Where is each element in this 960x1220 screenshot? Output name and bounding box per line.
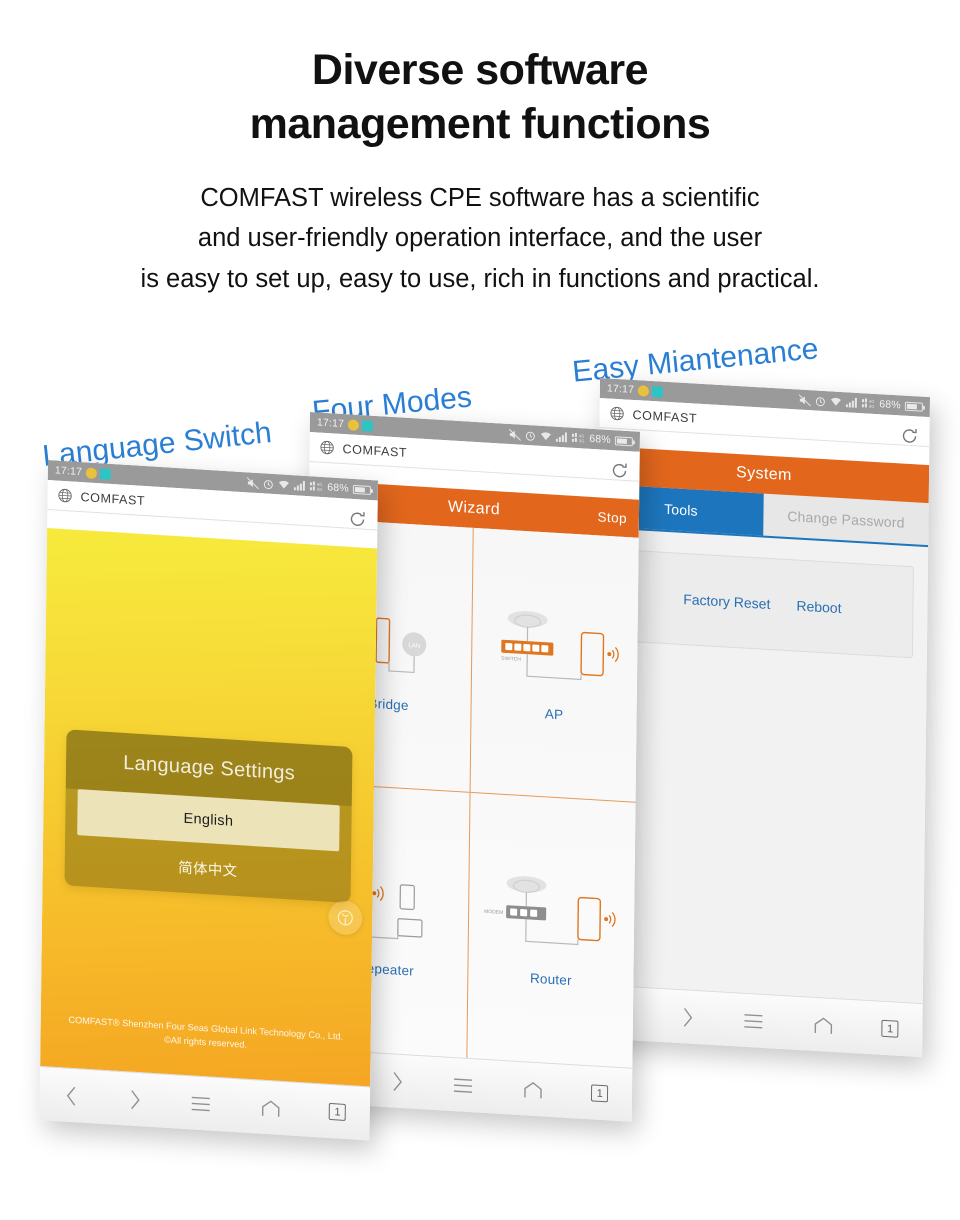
reload-icon [899,425,919,446]
phone1-copyright: COMFAST® Shenzhen Four Seas Global Link … [58,1014,352,1060]
tab-count-button[interactable]: 1 [591,1084,608,1102]
url-host: COMFAST [633,407,698,425]
phone-mockup-language: 17:17 4G3G 68% [39,460,378,1140]
notification-circle-icon [348,419,359,431]
battery-icon [353,484,371,494]
globe-icon [319,440,334,456]
forward-icon[interactable] [389,1070,405,1093]
mode-label-ap: AP [545,706,564,722]
svg-text:LAN: LAN [408,643,420,650]
appbar-title: System [736,464,792,485]
reboot-button[interactable]: Reboot [796,598,841,617]
app-badge-icon [100,468,111,480]
mute-icon [509,428,521,440]
reload-button[interactable] [347,509,367,535]
globe-icon [57,488,72,504]
mode-cell-router[interactable]: MODEM Router [467,793,635,1068]
svg-text:3G: 3G [579,438,585,443]
notification-circle-icon [86,467,97,479]
back-icon[interactable] [63,1084,79,1107]
app-badge-icon [652,386,663,398]
clock: 17:17 [607,382,634,396]
phone3-tools-panel: Factory Reset Reboot [611,549,914,659]
menu-icon[interactable] [190,1094,212,1113]
language-settings-dialog: Language Settings English 简体中文 [64,729,352,903]
signal-icon [846,397,858,408]
svg-text:3G: 3G [869,404,875,409]
reload-icon [347,509,367,530]
signal-icon [556,432,568,443]
dual-sim-icon: 4G3G [572,433,585,444]
dual-sim-icon: 4G3G [310,481,323,492]
tab-count-button[interactable]: 1 [329,1103,346,1121]
mute-icon [799,394,811,406]
app-badge-icon [362,420,373,432]
home-icon[interactable] [522,1079,544,1100]
mute-icon [247,477,259,489]
ap-diagram: SWITCH [484,604,625,704]
page-title: Diverse software management functions [0,0,960,152]
battery-percent: 68% [879,398,901,411]
phone-mockup-system: 17:17 4G3G 68% [592,378,930,1057]
reload-button[interactable] [899,425,919,451]
alarm-icon [525,429,536,441]
svg-text:MODEM: MODEM [484,909,503,916]
language-fab-button[interactable] [328,900,362,936]
svg-text:3G: 3G [317,487,323,492]
home-icon[interactable] [259,1097,281,1118]
language-globe-icon [336,908,354,927]
page-header: Diverse software management functions CO… [0,0,960,300]
factory-reset-button[interactable]: Factory Reset [683,591,770,612]
phones-stage: Easy Miantenance Four Modes 17:17 [0,330,960,1220]
page-subtitle-line2: and user-friendly operation interface, a… [0,218,960,259]
phone3-body: System Tools Change Password Factory Res… [593,446,929,1003]
page-subtitle-line3: is easy to set up, easy to use, rich in … [0,259,960,300]
phone3-screen: 17:17 4G3G 68% [592,378,930,1057]
mode-label-router: Router [530,971,572,989]
page-title-line2: management functions [0,98,960,152]
battery-percent: 68% [589,433,611,446]
clock: 17:17 [55,464,82,478]
svg-text:SWITCH: SWITCH [501,655,521,662]
forward-icon[interactable] [127,1088,143,1111]
stop-button[interactable]: Stop [597,509,627,526]
router-diagram: MODEM [481,870,622,970]
forward-icon[interactable] [679,1006,695,1029]
wifi-icon [830,396,842,407]
notification-circle-icon [638,385,649,397]
alarm-icon [263,478,274,490]
wifi-icon [540,431,552,442]
reload-button[interactable] [609,460,629,486]
dual-sim-icon: 4G3G [862,398,875,409]
menu-icon[interactable] [743,1011,765,1030]
clock: 17:17 [317,416,344,430]
alarm-icon [815,395,826,407]
battery-icon [905,401,923,411]
wifi-icon [278,479,290,490]
url-host: COMFAST [343,441,408,459]
mode-cell-ap[interactable]: SWITCH AP [471,528,639,803]
page-subtitle: COMFAST wireless CPE software has a scie… [0,178,960,300]
menu-icon[interactable] [452,1076,474,1095]
page-title-line1: Diverse software [312,46,648,94]
page-subtitle-line1: COMFAST wireless CPE software has a scie… [0,178,960,219]
reload-icon [609,460,629,481]
url-host: COMFAST [80,490,145,508]
signal-icon [294,480,306,491]
globe-icon [609,406,624,422]
phone1-screen: 17:17 4G3G 68% [39,460,378,1140]
appbar-title: Wizard [448,498,500,519]
promo-page: Diverse software management functions CO… [0,0,960,1220]
battery-icon [615,436,633,446]
home-icon[interactable] [812,1014,834,1035]
tab-count-button[interactable]: 1 [882,1020,899,1038]
battery-percent: 68% [327,481,349,494]
phone1-body: Language Settings English 简体中文 COMFAST® … [40,528,377,1086]
